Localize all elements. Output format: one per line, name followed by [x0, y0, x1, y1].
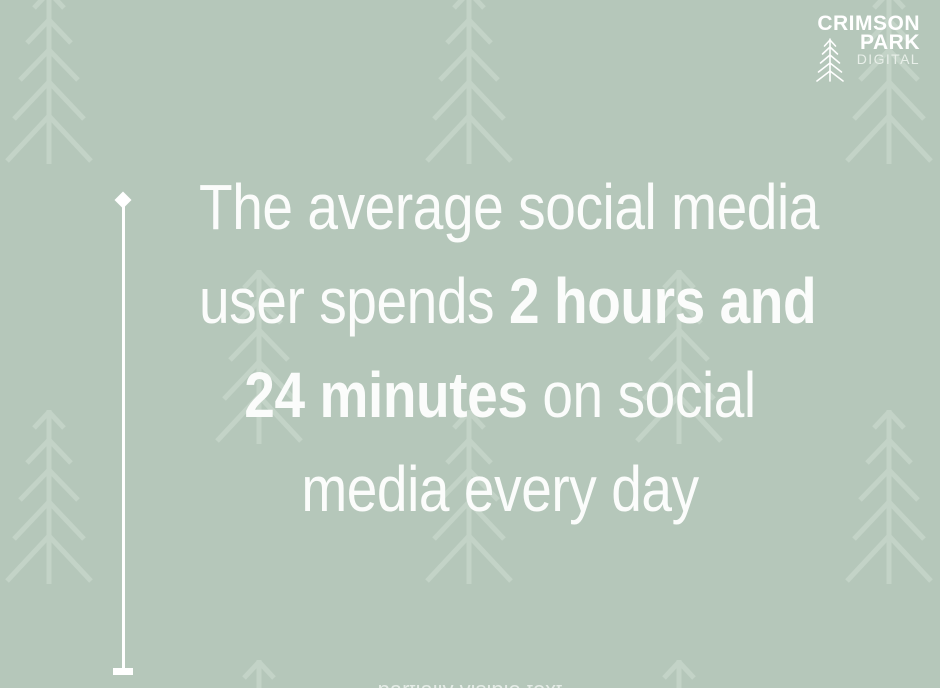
pine-tree-icon [844, 398, 934, 588]
pine-tree-icon [4, 398, 94, 588]
headline-segment-4-1: media every day [301, 453, 698, 525]
pine-tree-icon [424, 0, 514, 168]
pine-tree-icon [634, 648, 724, 688]
vertical-accent-rule [116, 194, 130, 688]
logo-line-digital: DIGITAL [857, 53, 920, 66]
headline-line-4: media every day [199, 442, 801, 536]
logo-text-stack: CRIMSON PARK DIGITAL [817, 14, 920, 66]
headline-line-2: user spends 2 hours and [199, 254, 801, 348]
rule-stem [122, 204, 125, 670]
pine-tree-icon [815, 36, 845, 82]
headline-line-1: The average social media [199, 160, 801, 254]
pine-tree-icon [4, 0, 94, 168]
headline-segment-2-2: 2 hours and [509, 265, 816, 337]
brand-logo[interactable]: CRIMSON PARK DIGITAL [817, 14, 920, 66]
headline-segment-3-1: 24 minutes [244, 359, 527, 431]
headline-segment-3-2: on social [528, 359, 756, 431]
headline: The average social mediauser spends 2 ho… [199, 160, 801, 536]
rule-foot [113, 668, 133, 675]
poster-canvas: CRIMSON PARK DIGITAL [0, 0, 940, 688]
headline-segment-1-1: The average social media [199, 171, 819, 243]
headline-line-3: 24 minutes on social [199, 348, 801, 442]
pine-tree-icon [214, 648, 304, 688]
headline-segment-2-1: user spends [199, 265, 509, 337]
logo-line-park: PARK [860, 33, 920, 52]
